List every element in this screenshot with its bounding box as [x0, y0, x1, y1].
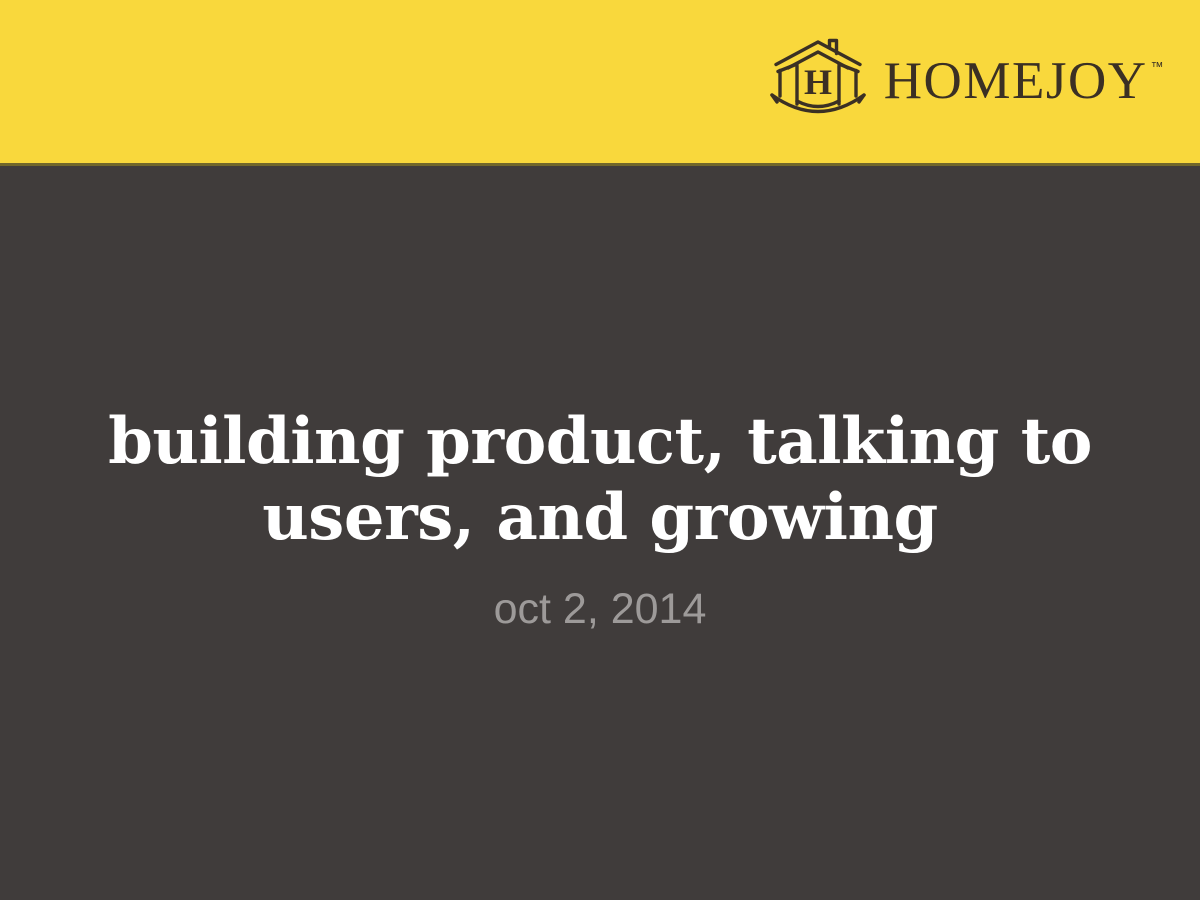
trademark-symbol: ™ — [1151, 60, 1165, 73]
slide-title-line-2: users, and growing — [262, 480, 937, 555]
homejoy-wordmark: HOMEJOY — [884, 38, 1148, 124]
presentation-slide: H HOMEJOY ™ building product, talking to… — [0, 0, 1200, 900]
homejoy-house-logo-icon: H — [766, 38, 870, 124]
slide-date: oct 2, 2014 — [60, 583, 1140, 635]
slide-body: building product, talking to users, and … — [0, 163, 1200, 900]
homejoy-monogram-h: H — [804, 62, 832, 102]
homejoy-logo: H HOMEJOY ™ — [766, 38, 1164, 124]
slide-title: building product, talking to users, and … — [60, 404, 1140, 556]
homejoy-wordmark-wrap: HOMEJOY ™ — [884, 38, 1164, 124]
slide-title-line-1: building product, talking to — [108, 404, 1092, 479]
